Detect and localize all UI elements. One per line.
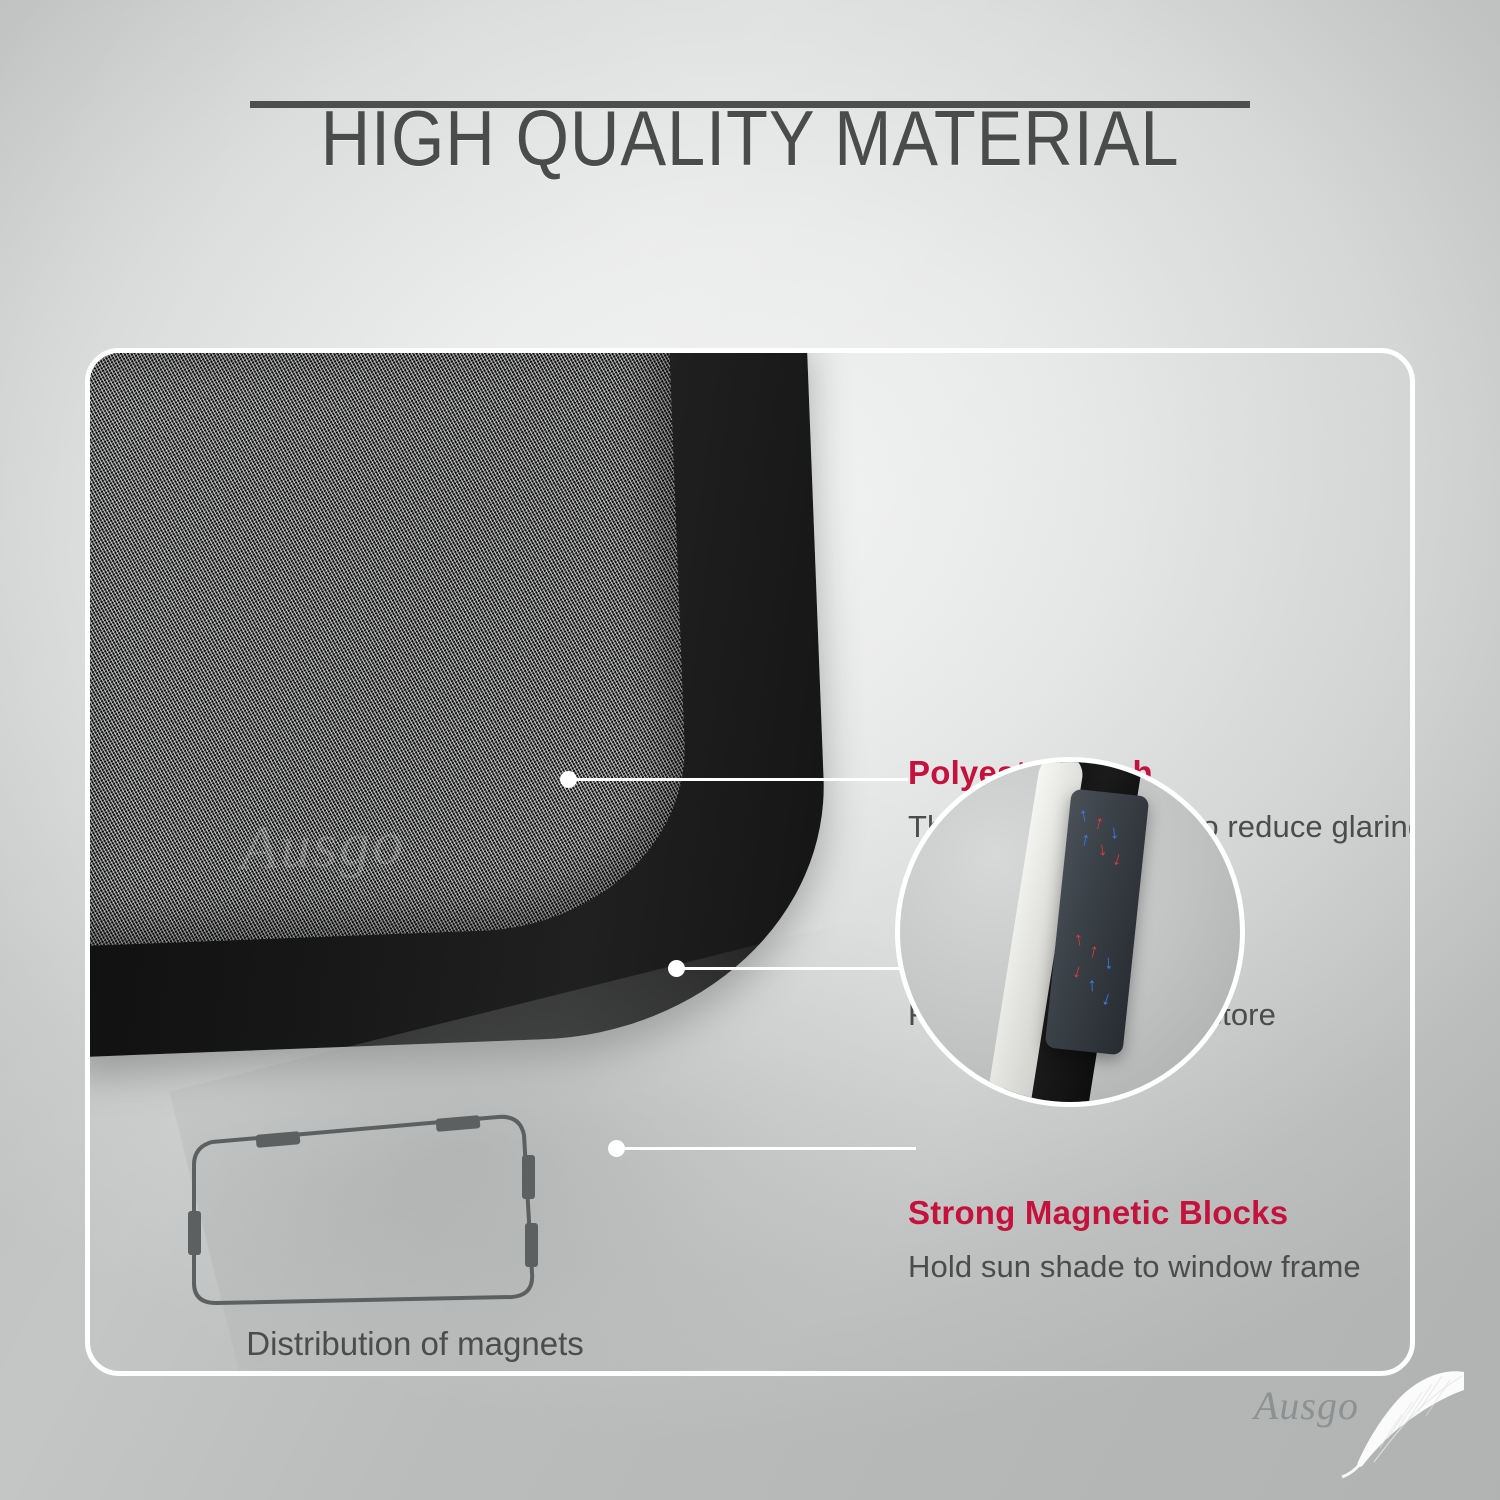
field-arrow-icon: ↑ [1079, 830, 1092, 851]
magnet-block [522, 1155, 535, 1199]
callout-line-magnetic-blocks [616, 1147, 916, 1150]
magnetic-block-inset-photo: ↑ ↑ ↓ ↑ ↓ ↓ ↑ ↑ ↓ ↓ ↑ ↓ [895, 757, 1245, 1107]
callout-line-polyester-mesh [568, 778, 908, 781]
brand-watermark: Ausgo [1232, 1360, 1472, 1480]
field-arrow-icon: ↑ [1092, 813, 1106, 834]
field-arrow-icon: ↓ [1070, 961, 1084, 982]
magnet-block [188, 1211, 201, 1255]
callout-body-strong-magnetic-blocks: Hold sun shade to window frame [908, 1245, 1415, 1288]
field-arrow-icon: ↓ [1103, 953, 1114, 973]
mesh-brand-watermark: Ausgo [239, 802, 561, 885]
feather-icon [1322, 1366, 1472, 1478]
field-arrow-icon: ↑ [1087, 976, 1097, 995]
diagram-caption: Distribution of magnets [180, 1325, 650, 1363]
field-arrow-icon: ↑ [1077, 805, 1090, 826]
field-arrow-icon: ↓ [1099, 988, 1114, 1009]
page-title: HIGH QUALITY MATERIAL [90, 96, 1410, 180]
field-arrow-icon: ↓ [1110, 849, 1124, 870]
title-underline [250, 101, 1250, 108]
callout-strong-magnetic-blocks: Strong Magnetic Blocks Hold sun shade to… [908, 1193, 1415, 1288]
title-block: HIGH QUALITY MATERIAL [0, 96, 1500, 180]
field-arrow-icon: ↑ [1087, 941, 1100, 962]
field-arrow-icon: ↑ [1072, 930, 1085, 950]
callout-title-strong-magnetic-blocks: Strong Magnetic Blocks [908, 1193, 1415, 1233]
magnet-distribution-diagram: Distribution of magnets [180, 1113, 550, 1323]
field-arrow-icon: ↓ [1096, 840, 1108, 860]
main-content-panel: Ausgo Polyester Mesh Thicker and durable… [85, 348, 1415, 1376]
window-outline-shape [180, 1113, 550, 1323]
magnet-block [525, 1223, 538, 1267]
field-arrow-icon: ↓ [1108, 823, 1119, 843]
infographic-root: HIGH QUALITY MATERIAL Ausgo Polyester Me… [0, 0, 1500, 1500]
callout-line-memory-metal-frame [676, 967, 908, 970]
